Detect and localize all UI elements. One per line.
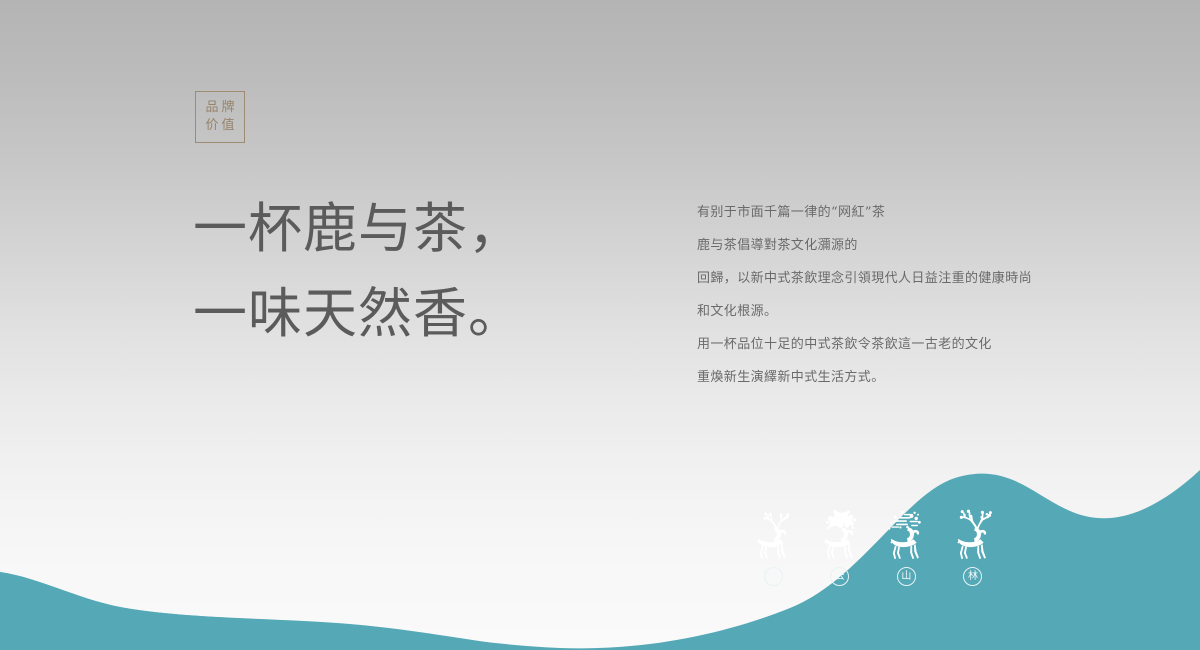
- deer-series-item-forest: 林: [948, 508, 998, 586]
- brand-value-badge: 品牌 价值: [195, 91, 245, 143]
- badge-line-2: 价值: [202, 117, 237, 135]
- deer-label-flower: 花: [764, 567, 783, 586]
- deer-label-mountain: 山: [897, 567, 916, 586]
- deer-label-cloud: 云: [830, 567, 849, 586]
- body-copy: 有别于市面千篇一律的“网紅”茶 鹿与茶倡導對茶文化瀰源的 回歸，以新中式茶飲理念…: [697, 196, 1097, 394]
- body-line-4: 和文化根源。: [697, 295, 1097, 328]
- body-line-3: 回歸，以新中式茶飲理念引領現代人日益注重的健康時尚: [697, 262, 1097, 295]
- body-line-1: 有别于市面千篇一律的“网紅”茶: [697, 196, 1097, 229]
- page-title: 一杯鹿与茶， 一味天然香。: [193, 186, 523, 356]
- headline-line-2: 一味天然香。: [193, 271, 523, 356]
- deer-series-item-flower: 花: [748, 508, 798, 586]
- deer-forest-icon: [950, 508, 996, 560]
- deer-series-row: 花: [748, 508, 998, 586]
- badge-line-1: 品牌: [202, 99, 237, 117]
- deer-flower-icon: [750, 508, 796, 560]
- headline-line-1: 一杯鹿与茶，: [193, 186, 523, 271]
- brand-value-poster: 品牌 价值 一杯鹿与茶， 一味天然香。 有别于市面千篇一律的“网紅”茶 鹿与茶倡…: [0, 0, 1200, 650]
- body-line-6: 重煥新生演繹新中式生活方式。: [697, 361, 1097, 394]
- deer-cloud-icon: [817, 508, 863, 560]
- deer-mountain-icon: [883, 508, 929, 560]
- deer-label-forest: 林: [963, 567, 982, 586]
- body-line-2: 鹿与茶倡導對茶文化瀰源的: [697, 229, 1097, 262]
- body-line-5: 用一杯品位十足的中式茶飲令茶飲這一古老的文化: [697, 328, 1097, 361]
- deer-series-item-mountain: 山: [881, 508, 931, 586]
- deer-series-item-cloud: 云: [815, 508, 865, 586]
